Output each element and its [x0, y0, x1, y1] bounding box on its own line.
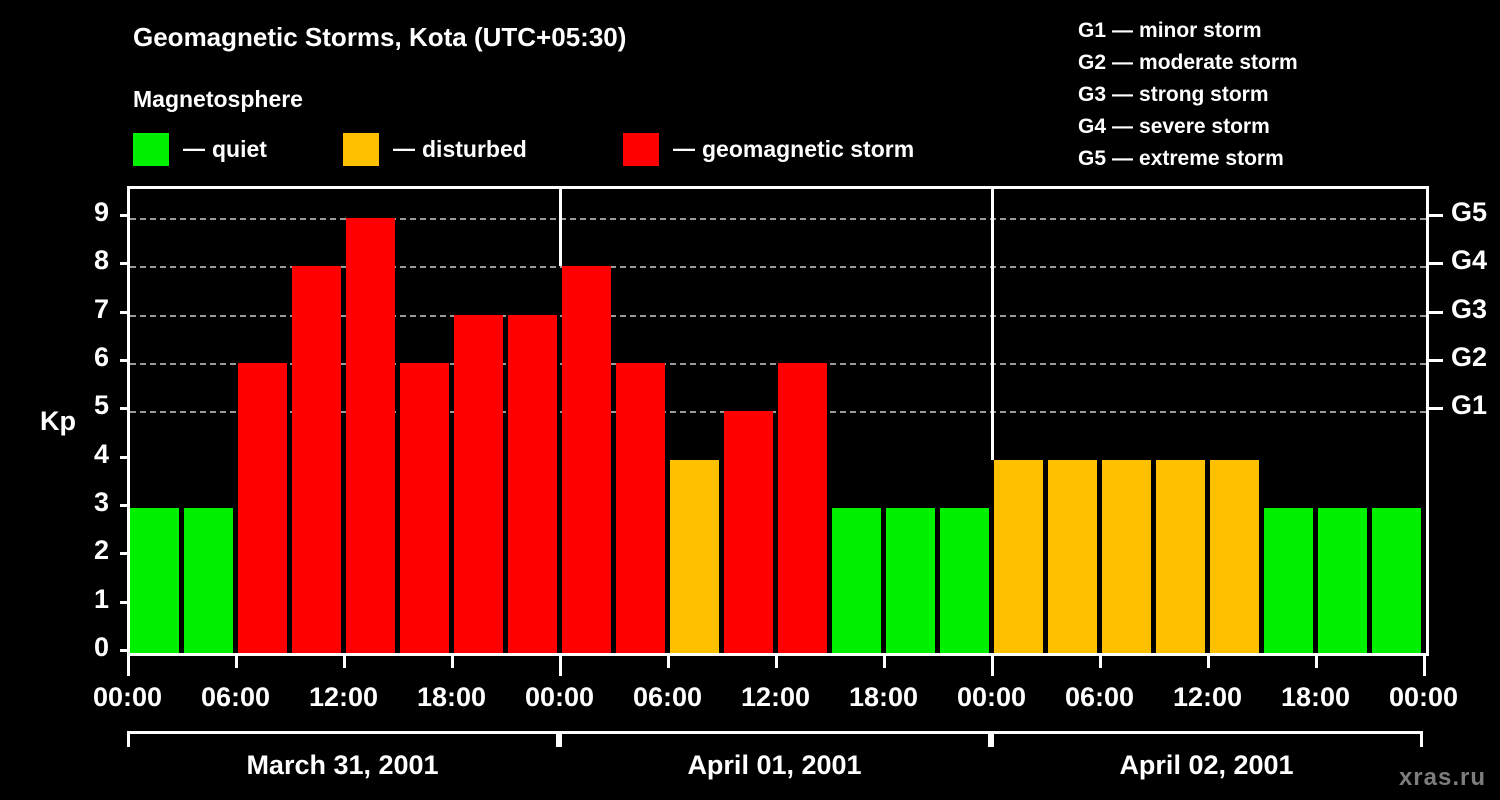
y-tick-label-8: 8	[63, 247, 109, 274]
x-tick-mark	[1315, 656, 1318, 668]
legend-label: quiet	[212, 138, 267, 161]
g-scale-dash: —	[1112, 15, 1133, 47]
y-tick-label-7: 7	[63, 296, 109, 323]
day-label-2: April 01, 2001	[559, 752, 991, 779]
x-tick-mark	[667, 656, 670, 668]
bar	[508, 315, 557, 653]
y-tick-label-5: 5	[63, 392, 109, 419]
x-tick-mark	[559, 656, 562, 676]
y-tick-label-4: 4	[63, 441, 109, 468]
bar	[1048, 460, 1097, 653]
g-axis-tick-label-g1: G1	[1451, 392, 1487, 419]
legend-label: geomagnetic storm	[702, 138, 914, 161]
g-scale-dash: —	[1112, 111, 1133, 143]
legend-label: disturbed	[422, 138, 527, 161]
g-scale-code: G1	[1078, 15, 1106, 47]
day-brackets	[0, 731, 1500, 749]
g-scale-row-g2: G2—moderate storm	[1078, 47, 1298, 79]
day-label-3: April 02, 2001	[991, 752, 1423, 779]
x-tick-mark	[883, 656, 886, 668]
green-square-icon	[133, 133, 169, 166]
bar	[778, 363, 827, 653]
orange-square-icon	[343, 133, 379, 166]
x-tick-label: 06:00	[176, 684, 296, 711]
x-axis-labels: 00:0006:0012:0018:0000:0006:0012:0018:00…	[0, 684, 1500, 718]
g-scale-row-g5: G5—extreme storm	[1078, 143, 1298, 175]
bar	[130, 508, 179, 653]
bar	[238, 363, 287, 653]
bar	[292, 266, 341, 653]
bar	[886, 508, 935, 653]
x-tick-label: 12:00	[1148, 684, 1268, 711]
x-tick-label: 00:00	[68, 684, 188, 711]
x-tick-label: 06:00	[1040, 684, 1160, 711]
g-scale-label: strong storm	[1139, 83, 1269, 106]
bar	[562, 266, 611, 653]
bar	[1102, 460, 1151, 653]
bar	[1372, 508, 1421, 653]
g-scale-code: G4	[1078, 111, 1106, 143]
bar	[940, 508, 989, 653]
day-bracket-1	[127, 731, 559, 747]
g-axis-tick-mark-g3	[1429, 311, 1443, 314]
bar	[1156, 460, 1205, 653]
g-scale-row-g3: G3—strong storm	[1078, 79, 1298, 111]
x-tick-label: 12:00	[284, 684, 404, 711]
x-tick-mark	[1099, 656, 1102, 668]
x-tick-label: 00:00	[932, 684, 1052, 711]
x-tick-label: 18:00	[1256, 684, 1376, 711]
bar	[616, 363, 665, 653]
bar	[1264, 508, 1313, 653]
watermark: xras.ru	[1399, 764, 1486, 792]
x-tick-mark	[127, 656, 130, 676]
bar	[724, 411, 773, 653]
g-axis-tick-mark-g4	[1429, 262, 1443, 265]
g-scale-dash: —	[1112, 79, 1133, 111]
y-tick-label-3: 3	[63, 489, 109, 516]
bar	[1210, 460, 1259, 653]
legend-item-disturbed: —disturbed	[343, 132, 527, 166]
g-scale-row-g1: G1—minor storm	[1078, 15, 1298, 47]
bar	[400, 363, 449, 653]
day-labels: March 31, 2001April 01, 2001April 02, 20…	[0, 752, 1500, 792]
g-axis-tick-mark-g1	[1429, 407, 1443, 410]
plot-area	[127, 186, 1429, 656]
day-bracket-3	[991, 731, 1423, 747]
g-axis-tick-mark-g5	[1429, 214, 1443, 217]
bar-series	[130, 189, 1426, 653]
x-tick-mark	[451, 656, 454, 668]
g-scale-label: moderate storm	[1139, 51, 1298, 74]
legend-item-geomagnetic-storm: —geomagnetic storm	[623, 132, 914, 166]
x-tick-label: 18:00	[824, 684, 944, 711]
bar	[1318, 508, 1367, 653]
day-separator-2	[991, 189, 994, 460]
x-tick-mark	[1423, 656, 1426, 676]
day-bracket-2	[559, 731, 991, 747]
bar	[184, 508, 233, 653]
g-scale-axis: G1G2G3G4G5	[1429, 186, 1499, 656]
x-tick-label: 00:00	[1364, 684, 1484, 711]
bar	[670, 460, 719, 653]
g-scale-dash: —	[1112, 47, 1133, 79]
g-scale-label: minor storm	[1139, 19, 1262, 42]
y-tick-label-1: 1	[63, 586, 109, 613]
x-tick-mark	[1207, 656, 1210, 668]
legend-dash: —	[673, 138, 695, 160]
page-title: Geomagnetic Storms, Kota (UTC+05:30)	[133, 22, 626, 53]
y-tick-label-2: 2	[63, 537, 109, 564]
bar	[832, 508, 881, 653]
g-scale-label: extreme storm	[1139, 147, 1284, 170]
g-scale-dash: —	[1112, 143, 1133, 175]
g-axis-tick-label-g2: G2	[1451, 344, 1487, 371]
g-scale-code: G5	[1078, 143, 1106, 175]
g-scale-label: severe storm	[1139, 115, 1270, 138]
chart-subtitle: Magnetosphere	[133, 86, 303, 113]
g-scale-code: G3	[1078, 79, 1106, 111]
bar	[346, 218, 395, 653]
x-tick-mark	[235, 656, 238, 668]
x-tick-label: 18:00	[392, 684, 512, 711]
g-axis-tick-mark-g2	[1429, 359, 1443, 362]
red-square-icon	[623, 133, 659, 166]
day-separator-1	[559, 189, 562, 266]
geomagnetic-storm-chart: Geomagnetic Storms, Kota (UTC+05:30) Mag…	[0, 0, 1500, 800]
g-axis-tick-label-g5: G5	[1451, 199, 1487, 226]
x-axis-ticks	[0, 656, 1500, 678]
x-tick-label: 12:00	[716, 684, 836, 711]
g-scale-legend: G1—minor stormG2—moderate stormG3—strong…	[1078, 15, 1298, 175]
legend-dash: —	[393, 138, 415, 160]
plot-inner	[130, 189, 1426, 653]
y-axis-ticks: 0123456789	[57, 186, 123, 656]
bar	[994, 460, 1043, 653]
x-tick-mark	[991, 656, 994, 676]
x-tick-mark	[343, 656, 346, 668]
y-tick-label-9: 9	[63, 199, 109, 226]
g-scale-row-g4: G4—severe storm	[1078, 111, 1298, 143]
day-label-1: March 31, 2001	[127, 752, 559, 779]
bar	[454, 315, 503, 653]
legend-item-quiet: —quiet	[133, 132, 267, 166]
g-axis-tick-label-g4: G4	[1451, 247, 1487, 274]
y-tick-label-6: 6	[63, 344, 109, 371]
g-axis-tick-label-g3: G3	[1451, 296, 1487, 323]
x-tick-mark	[775, 656, 778, 668]
g-scale-code: G2	[1078, 47, 1106, 79]
x-tick-label: 00:00	[500, 684, 620, 711]
legend-dash: —	[183, 138, 205, 160]
x-tick-label: 06:00	[608, 684, 728, 711]
